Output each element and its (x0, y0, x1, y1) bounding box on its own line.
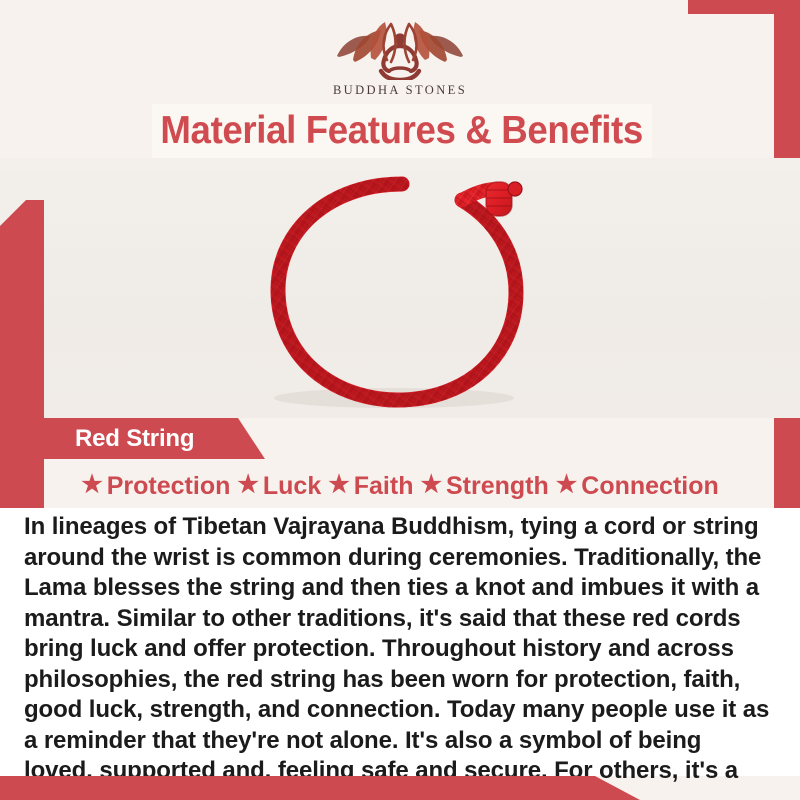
product-name-label: Red String (75, 425, 194, 453)
benefit-item-faith: ★ Faith (328, 472, 413, 501)
star-icon: ★ (81, 473, 103, 497)
star-icon: ★ (328, 473, 350, 497)
page-title: Material Features & Benefits (161, 109, 644, 153)
benefit-label: Strength (446, 472, 549, 501)
brand-logo: BUDDHA STONES (325, 16, 475, 98)
description-text: In lineages of Tibetan Vajrayana Buddhis… (24, 512, 776, 800)
infographic-page: BUDDHA STONES Material Features & Benefi… (0, 0, 800, 800)
product-photo-area (0, 158, 800, 418)
top-cream-overlay (0, 0, 688, 14)
lotus-meditation-icon (325, 16, 475, 80)
benefit-label: Luck (263, 472, 321, 501)
bottom-red-bar (0, 776, 640, 800)
benefit-item-protection: ★ Protection (81, 472, 230, 501)
star-icon: ★ (237, 473, 259, 497)
red-string-bracelet-image (234, 168, 564, 418)
benefit-item-luck: ★ Luck (237, 472, 321, 501)
star-icon: ★ (420, 473, 442, 497)
benefit-label: Connection (581, 472, 719, 501)
title-band: Material Features & Benefits (152, 104, 652, 158)
benefit-item-connection: ★ Connection (556, 472, 719, 501)
brand-header: BUDDHA STONES (0, 14, 800, 100)
benefits-row: ★ Protection ★ Luck ★ Faith ★ Strength ★… (0, 464, 800, 508)
product-name-banner: Red String (0, 418, 265, 459)
benefit-label: Protection (107, 472, 231, 501)
brand-name: BUDDHA STONES (333, 83, 467, 98)
benefit-label: Faith (354, 472, 414, 501)
description-area: In lineages of Tibetan Vajrayana Buddhis… (0, 508, 800, 776)
benefit-item-strength: ★ Strength (420, 472, 548, 501)
star-icon: ★ (556, 473, 578, 497)
